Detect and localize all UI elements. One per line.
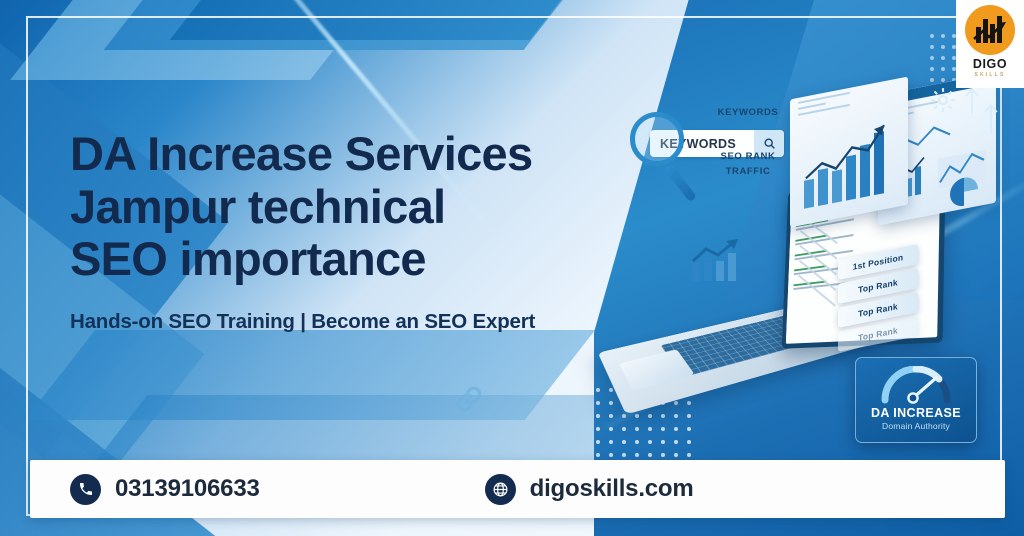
da-card-title: DA INCREASE — [871, 406, 961, 420]
globe-icon — [485, 474, 516, 505]
phone-number: 03139106633 — [115, 475, 260, 503]
phone-contact[interactable]: 03139106633 — [70, 474, 260, 505]
link-chain-icon — [452, 382, 486, 421]
keyword-label-below: SEO RANK — [698, 150, 798, 164]
speedometer-gauge-icon — [879, 366, 953, 404]
logo-tagline: SKILLS — [975, 72, 1006, 78]
keyword-label-below: TRAFFIC — [698, 165, 798, 179]
keyword-labels: KEYWORDS SEO RANK TRAFFIC — [698, 106, 798, 179]
rank-tab-label: Top Rank — [858, 277, 898, 295]
headline-line-3: SEO importance — [70, 233, 650, 286]
gear-icon — [928, 85, 958, 120]
subheadline: Hands-on SEO Training | Become an SEO Ex… — [70, 310, 650, 334]
arrow-up-icon — [962, 80, 1004, 161]
headline-line-2: Jampur technical — [70, 181, 650, 234]
keyword-label-above: KEYWORDS — [698, 106, 798, 120]
seo-marketing-banner: DA Increase Services Jampur technical SE… — [0, 0, 1024, 536]
contact-footer-bar: 03139106633 digoskills.com — [30, 460, 1005, 518]
rank-tab-label: 1st Position — [853, 252, 904, 272]
decor-top-band — [170, 0, 671, 40]
rank-tabs-group: 1st Position Top Rank Top Rank Top Rank — [838, 252, 918, 348]
logo-name: DIGO — [973, 57, 1007, 71]
page-title: DA Increase Services Jampur technical SE… — [70, 128, 650, 286]
rank-tab-label: Top Rank — [858, 301, 898, 319]
phone-icon — [70, 474, 101, 505]
website-url: digoskills.com — [530, 475, 694, 503]
da-card-subtitle: Domain Authority — [882, 421, 950, 431]
analytics-panel-bar — [790, 77, 908, 228]
growth-chart-arrow-icon — [688, 237, 742, 290]
headline-line-1: DA Increase Services — [70, 128, 650, 181]
brand-logo[interactable]: DIGO SKILLS — [956, 0, 1024, 88]
bar-chart-arrow-icon — [965, 5, 1015, 55]
headline-block: DA Increase Services Jampur technical SE… — [70, 128, 650, 334]
rank-tab-label: Top Rank — [858, 325, 898, 343]
da-increase-card: DA INCREASE Domain Authority — [855, 357, 977, 443]
website-contact[interactable]: digoskills.com — [485, 474, 694, 505]
